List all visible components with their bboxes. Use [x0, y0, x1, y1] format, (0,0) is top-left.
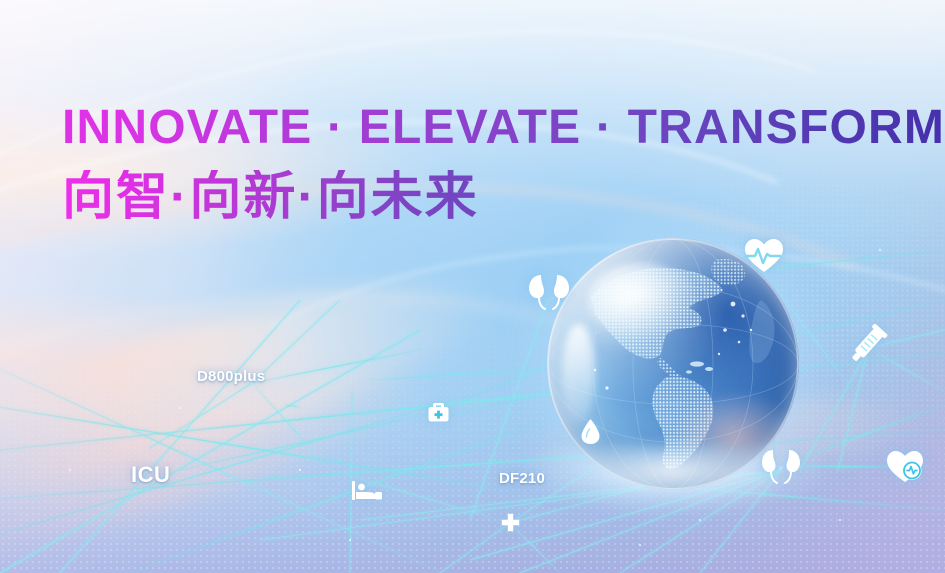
hero-banner: INNOVATE · ELEVATE · TRANSFORM 向智·向新·向未来…	[0, 0, 945, 573]
hospital-bed-icon[interactable]	[351, 479, 383, 501]
keyword-label-df210: DF210	[499, 470, 545, 487]
keyword-label-icu: ICU	[131, 462, 170, 488]
page-subtitle: 向智·向新·向未来	[62, 170, 479, 225]
heart-ecg-icon[interactable]	[886, 450, 924, 484]
kidneys-icon[interactable]	[760, 447, 802, 487]
page-title: INNOVATE · ELEVATE · TRANSFORM	[62, 104, 945, 152]
water-drop-icon[interactable]	[580, 418, 601, 445]
kidneys-icon[interactable]	[527, 271, 571, 313]
medical-cross-icon[interactable]	[500, 513, 521, 534]
keyword-label-d800plus: D800plus	[197, 368, 265, 385]
heart-pulse-icon[interactable]	[744, 238, 784, 274]
medical-bag-icon[interactable]	[427, 401, 450, 423]
